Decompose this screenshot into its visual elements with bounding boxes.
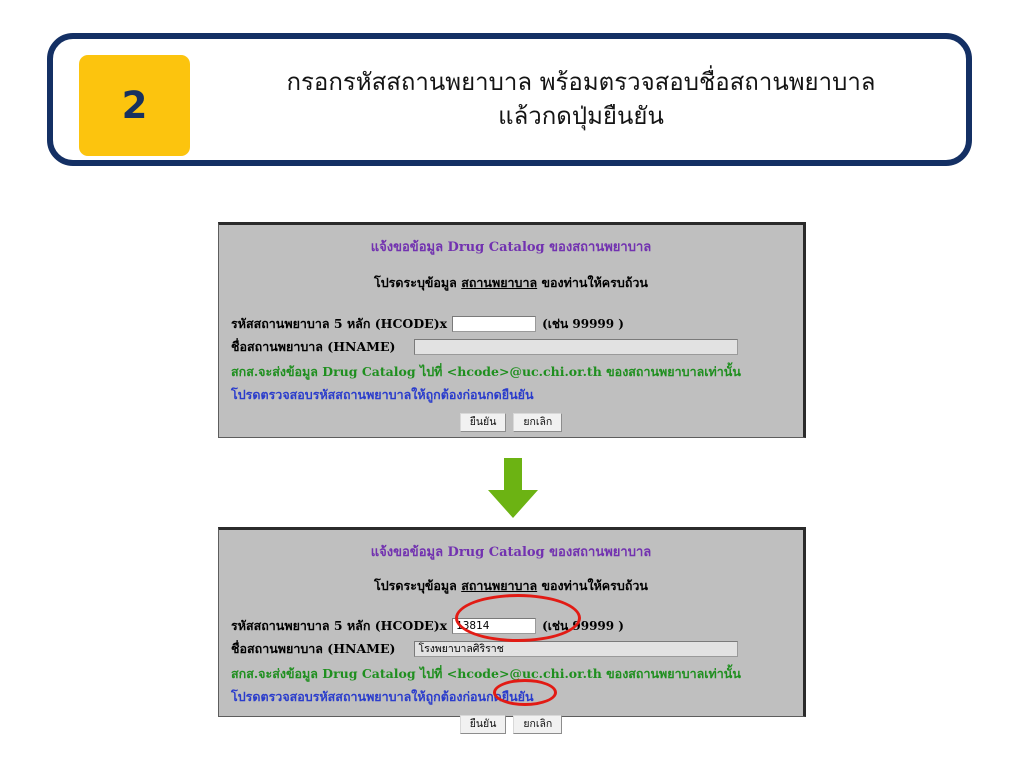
hcode-field-row-before: รหัสสถานพยาบาล 5 หลัก (HCODE)x (เช่น 999… xyxy=(231,314,803,334)
email-note-after: สกส.จะส่งข้อมูล Drug Catalog ไปที่ <hcod… xyxy=(231,664,803,684)
form-panel-before: แจ้งขอข้อมูล Drug Catalog ของสถานพยาบาล … xyxy=(218,222,806,438)
subtitle-suffix: ของท่านให้ครบถ้วน xyxy=(537,578,648,593)
form-title-before: แจ้งขอข้อมูล Drug Catalog ของสถานพยาบาล xyxy=(219,236,803,257)
subtitle-prefix: โปรดระบุข้อมูล xyxy=(374,275,461,290)
hname-label: ชื่อสถานพยาบาล (HNAME) xyxy=(231,639,395,659)
hcode-hint: (เช่น 99999 ) xyxy=(542,617,624,636)
arrow-down-icon xyxy=(486,458,540,520)
step-number-badge: 2 xyxy=(79,55,190,156)
hname-label: ชื่อสถานพยาบาล (HNAME) xyxy=(231,337,395,357)
button-row-after: ยืนยัน ยกเลิก xyxy=(219,715,803,734)
hcode-label: รหัสสถานพยาบาล 5 หลัก (HCODE)x xyxy=(231,616,447,636)
confirm-button[interactable]: ยืนยัน xyxy=(460,413,507,432)
hname-field-row-after: ชื่อสถานพยาบาล (HNAME) โรงพยาบาลศิริราช xyxy=(231,639,803,659)
hcode-input[interactable] xyxy=(452,316,536,332)
form-subtitle-after: โปรดระบุข้อมูล สถานพยาบาล ของท่านให้ครบถ… xyxy=(219,576,803,596)
subtitle-suffix: ของท่านให้ครบถ้วน xyxy=(537,275,648,290)
button-row-before: ยืนยัน ยกเลิก xyxy=(219,413,803,432)
hcode-field-row-after: รหัสสถานพยาบาล 5 หลัก (HCODE)x 13814 (เช… xyxy=(231,616,803,636)
verify-note-before: โปรดตรวจสอบรหัสสถานพยาบาลให้ถูกต้องก่อนก… xyxy=(231,385,803,405)
subtitle-underlined-term: สถานพยาบาล xyxy=(461,275,537,290)
hcode-input[interactable]: 13814 xyxy=(452,618,536,634)
hcode-label: รหัสสถานพยาบาล 5 หลัก (HCODE)x xyxy=(231,314,447,334)
cancel-button[interactable]: ยกเลิก xyxy=(513,413,562,432)
form-subtitle-before: โปรดระบุข้อมูล สถานพยาบาล ของท่านให้ครบถ… xyxy=(219,273,803,293)
step-number-text: 2 xyxy=(122,87,148,124)
email-note-before: สกส.จะส่งข้อมูล Drug Catalog ไปที่ <hcod… xyxy=(231,362,803,382)
subtitle-prefix: โปรดระบุข้อมูล xyxy=(374,578,461,593)
step-header-banner: 2 กรอกรหัสสถานพยาบาล พร้อมตรวจสอบชื่อสถา… xyxy=(47,33,972,166)
subtitle-underlined-term: สถานพยาบาล xyxy=(461,578,537,593)
hcode-hint: (เช่น 99999 ) xyxy=(542,315,624,334)
form-title-after: แจ้งขอข้อมูล Drug Catalog ของสถานพยาบาล xyxy=(219,541,803,562)
verify-note-after: โปรดตรวจสอบรหัสสถานพยาบาลให้ถูกต้องก่อนก… xyxy=(231,687,803,707)
cancel-button[interactable]: ยกเลิก xyxy=(513,715,562,734)
step-instruction-text: กรอกรหัสสถานพยาบาล พร้อมตรวจสอบชื่อสถานพ… xyxy=(203,65,959,133)
form-panel-after: แจ้งขอข้อมูล Drug Catalog ของสถานพยาบาล … xyxy=(218,527,806,717)
hname-input[interactable] xyxy=(414,339,738,355)
hname-input[interactable]: โรงพยาบาลศิริราช xyxy=(414,641,738,657)
confirm-button[interactable]: ยืนยัน xyxy=(460,715,507,734)
hname-field-row-before: ชื่อสถานพยาบาล (HNAME) xyxy=(231,337,803,357)
